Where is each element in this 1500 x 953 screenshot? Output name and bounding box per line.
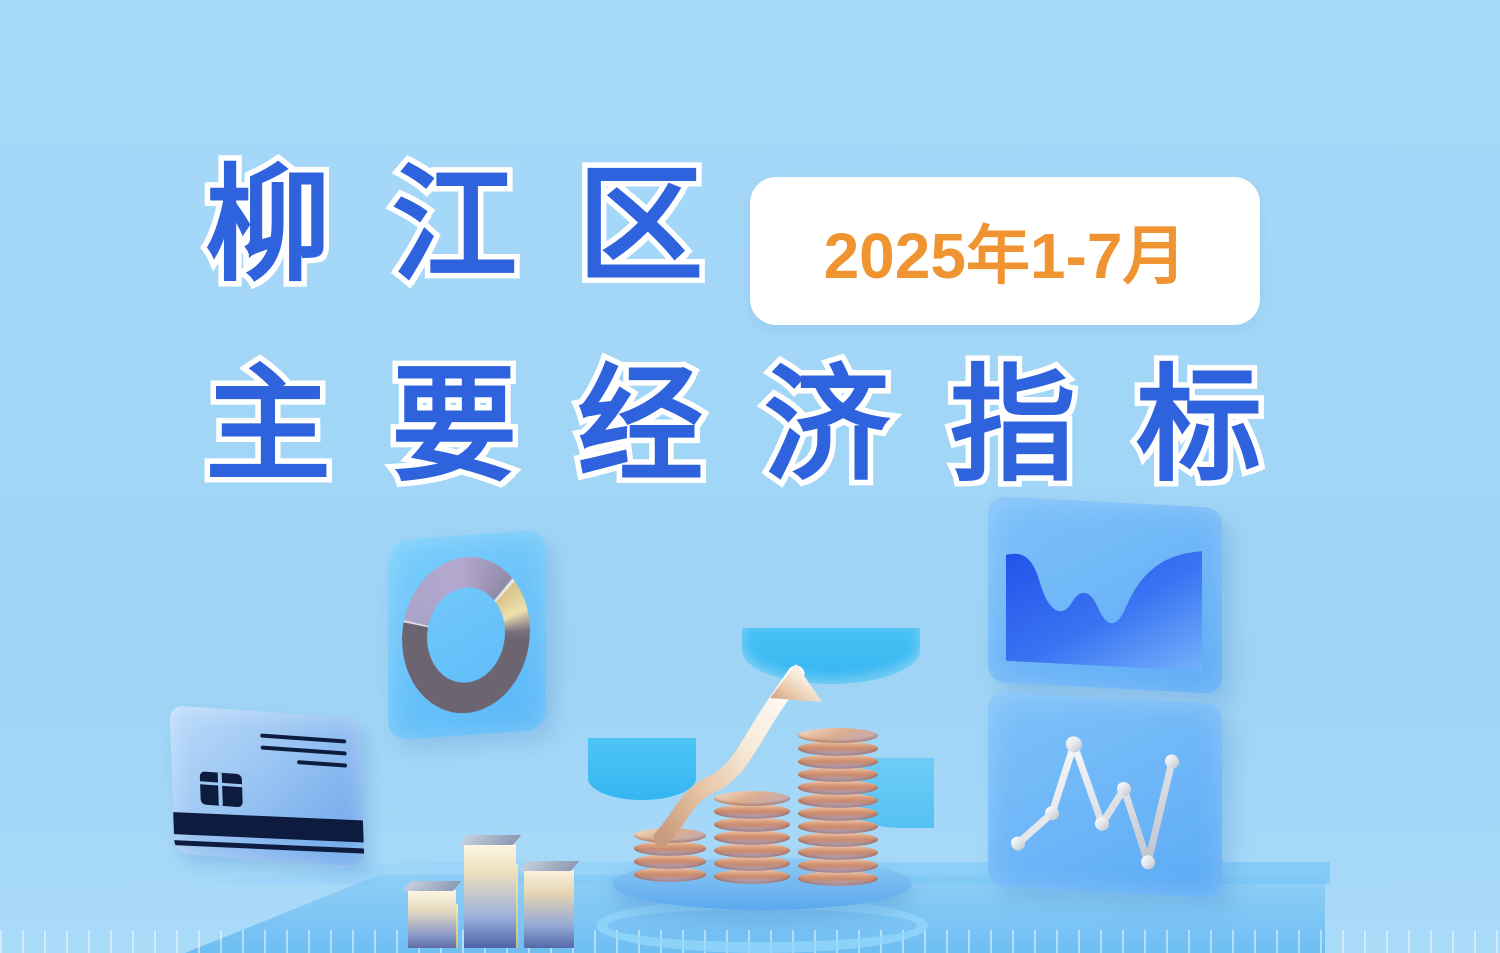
card-chip-icon [200, 771, 243, 807]
card-line-3 [297, 760, 347, 768]
coin [714, 869, 790, 884]
coin [634, 854, 706, 869]
donut-chart-icon [402, 553, 530, 718]
bar-1-top [403, 881, 461, 891]
donut-chart-tile [388, 529, 546, 740]
card-line-1 [260, 733, 346, 743]
card-magnetic-stripe [169, 812, 364, 844]
poster-canvas: 柳 江 区 2025年1-7月 主 要 经 济 指 标 [0, 0, 1500, 953]
credit-card-icon [169, 705, 364, 867]
bar-3-top [519, 861, 579, 871]
page-title-line2: 主 要 经 济 指 标 [205, 360, 1275, 492]
growth-arrow-icon [600, 620, 860, 850]
page-title-line1: 柳 江 区 [205, 160, 716, 292]
bar-3 [524, 870, 574, 948]
period-badge: 2025年1-7月 [750, 177, 1260, 325]
coin [798, 858, 878, 873]
coin [714, 856, 790, 871]
area-chart-icon [1006, 525, 1202, 671]
bar-2-top [459, 835, 521, 845]
title-block: 柳 江 区 2025年1-7月 主 要 经 济 指 标 [205, 160, 1325, 520]
line-chart-panel [988, 692, 1222, 898]
card-magnetic-stripe-thin [169, 840, 364, 855]
coin [634, 867, 706, 882]
bar-1 [408, 890, 456, 948]
coin [798, 871, 878, 886]
period-badge-label: 2025年1-7月 [824, 205, 1187, 297]
title-line-1: 柳 江 区 [205, 160, 716, 292]
bar-2 [464, 844, 516, 948]
card-line-2 [261, 746, 347, 756]
title-line-2: 主 要 经 济 指 标 [205, 360, 1275, 492]
bar-chart-icon [408, 838, 618, 948]
area-chart-panel [988, 496, 1222, 694]
line-chart-icon [1004, 715, 1206, 876]
